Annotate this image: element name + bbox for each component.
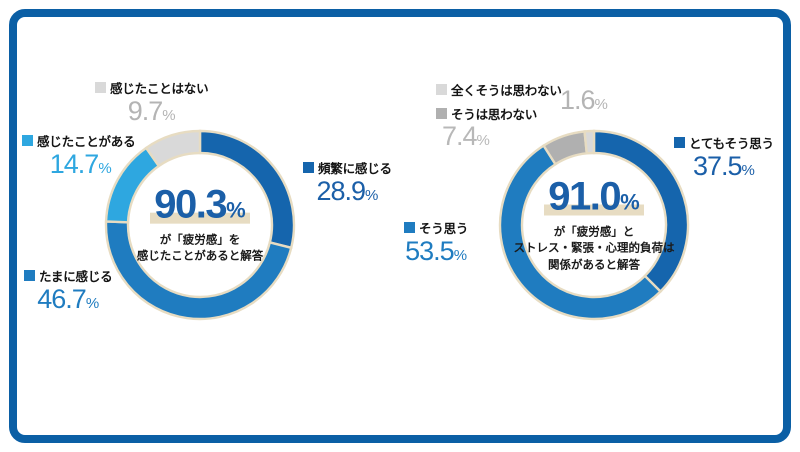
legend-label-sometimes: たまに感じる	[39, 266, 112, 285]
legend-pct-sometimes: %	[86, 295, 99, 312]
legend-label-often: 頻繁に感じる	[318, 158, 392, 177]
legend-value-sometimes: 46.7	[37, 284, 86, 314]
legend-item-never: 全くそうは思わない	[436, 80, 562, 99]
legend-value-often: 28.9	[316, 176, 365, 206]
legend-value-have: 14.7	[50, 149, 99, 179]
legend-label-never: 全くそうは思わない	[451, 80, 562, 99]
legend-value-think: 53.5	[405, 236, 454, 266]
legend-pct-never: %	[595, 96, 608, 113]
donut-segment-0	[200, 131, 294, 248]
donut-segment-1	[106, 221, 291, 319]
legend-swatch-very	[674, 137, 685, 148]
legend-item-have: 感じたことがある 14.7%	[22, 131, 135, 178]
legend-label-very: とてもそう思う	[689, 133, 774, 152]
legend-item-sometimes: たまに感じる 46.7%	[24, 266, 112, 313]
donut-segment-3	[585, 131, 594, 153]
donut-ring-right: 91.0% が「疲労感」と ストレス・緊張・心理的負荷は 関係があると解答	[494, 125, 694, 325]
legend-item-none: 感じたことはない 9.7%	[95, 78, 208, 125]
donut-segment-3	[146, 131, 200, 166]
donut-svg-right	[494, 125, 694, 325]
legend-value-no: 7.4	[442, 121, 477, 151]
donut-chart-fatigue-experience: 90.3% が「疲労感」を 感じたことがあると解答 感じたことはない 9.7% …	[0, 0, 400, 452]
legend-value-wrap-no: 7.4%	[442, 122, 490, 150]
legend-swatch-no	[436, 108, 447, 119]
legend-pct-often: %	[365, 187, 378, 204]
legend-pct-very: %	[742, 162, 755, 179]
legend-value-none: 9.7	[128, 96, 163, 126]
legend-swatch-sometimes	[24, 270, 35, 281]
donut-segment-1	[500, 146, 660, 319]
legend-label-think: そう思う	[419, 218, 468, 237]
legend-swatch-never	[436, 84, 447, 95]
legend-item-often: 頻繁に感じる 28.9%	[303, 158, 392, 205]
legend-pct-no: %	[477, 132, 490, 149]
legend-item-think: そう思う 53.5%	[404, 218, 468, 265]
legend-pct-have: %	[98, 160, 111, 177]
legend-label-have: 感じたことがある	[37, 131, 135, 150]
legend-label-none: 感じたことはない	[110, 78, 208, 97]
legend-swatch-often	[303, 162, 314, 173]
legend-pct-none: %	[162, 107, 175, 124]
legend-value-never: 1.6	[560, 85, 595, 115]
legend-value-very: 37.5	[693, 151, 742, 181]
donut-chart-fatigue-stress-relation: 91.0% が「疲労感」と ストレス・緊張・心理的負荷は 関係があると解答 全く…	[400, 0, 800, 452]
legend-swatch-think	[404, 222, 415, 233]
legend-swatch-have	[22, 135, 33, 146]
legend-swatch-none	[95, 82, 106, 93]
legend-item-very: とてもそう思う 37.5%	[674, 133, 774, 180]
legend-pct-think: %	[454, 247, 467, 264]
legend-value-wrap-never: 1.6%	[560, 86, 608, 114]
